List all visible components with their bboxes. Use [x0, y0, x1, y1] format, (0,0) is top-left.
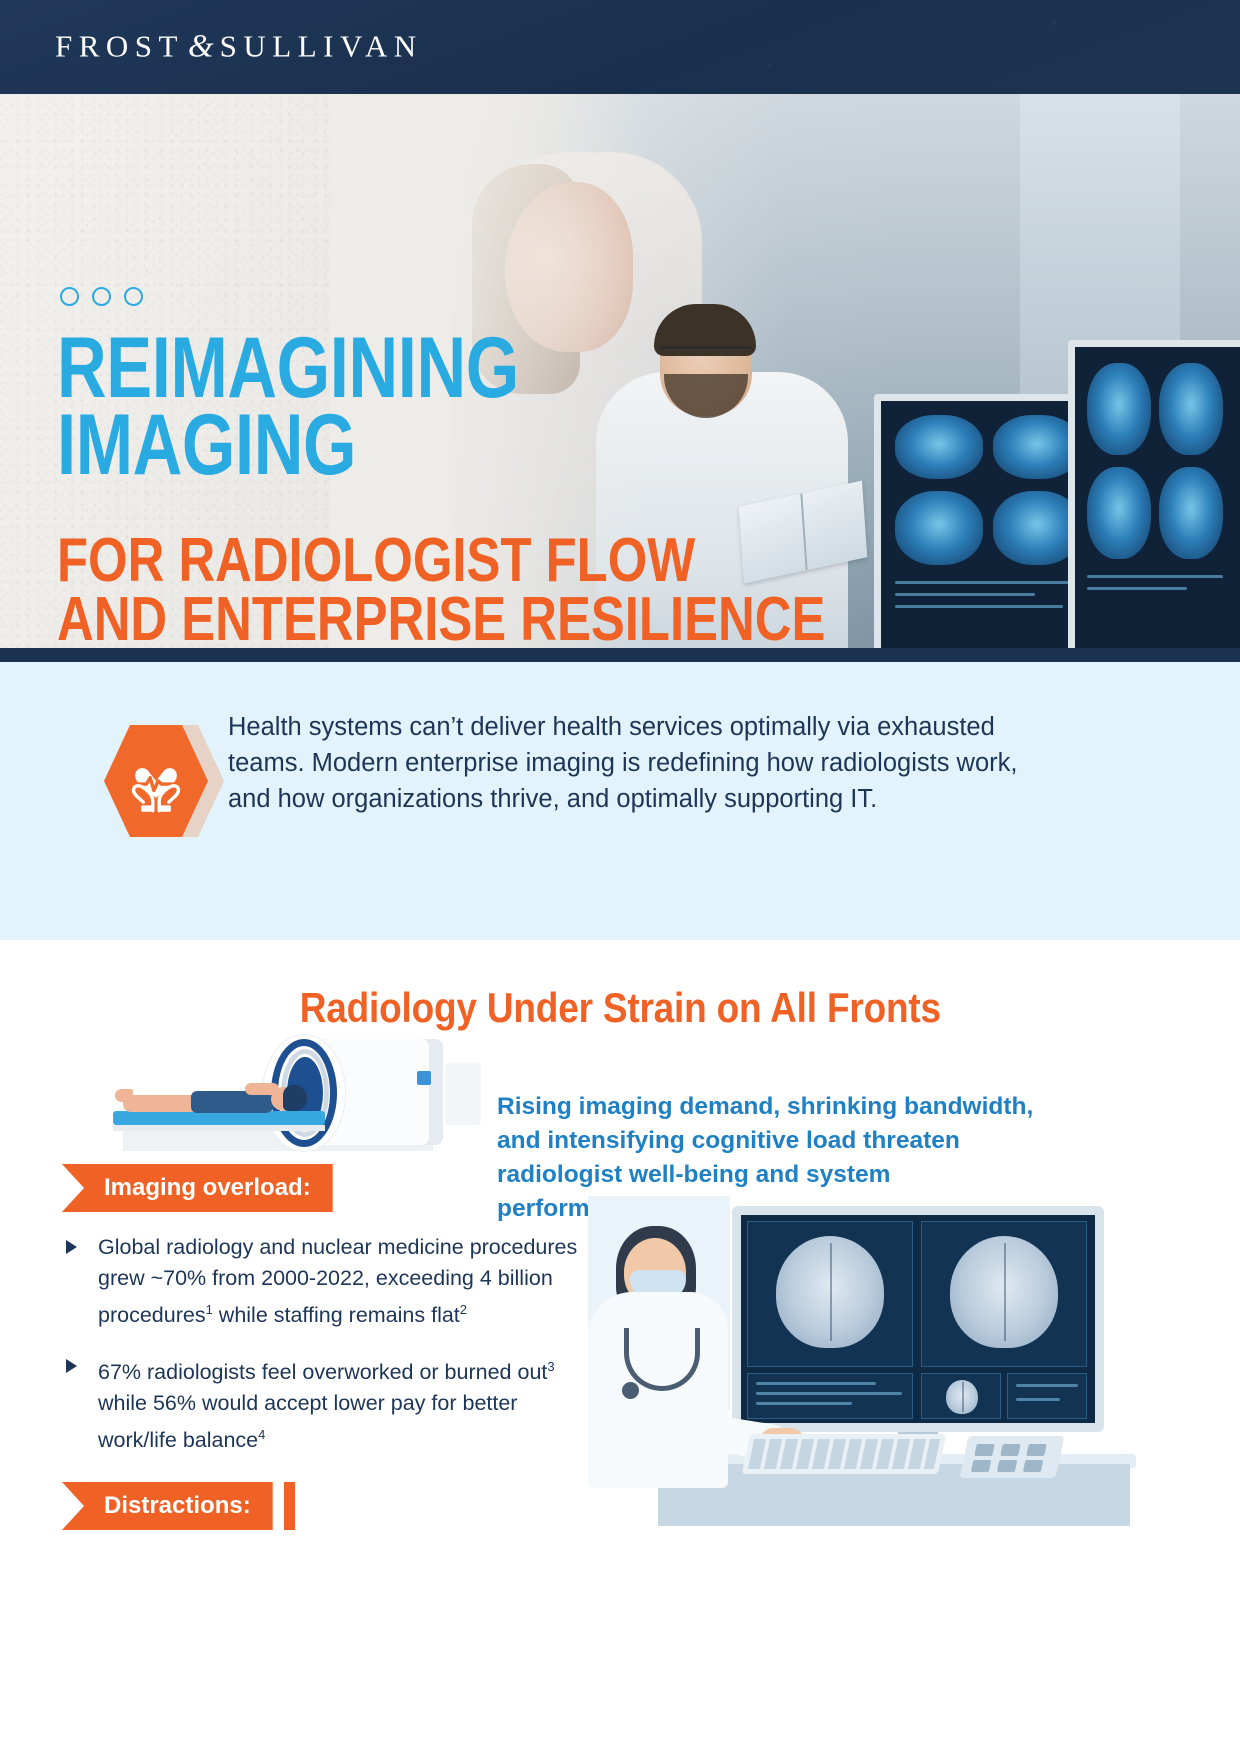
mri-rear-console: [445, 1063, 481, 1125]
pad-key: [1026, 1444, 1047, 1456]
hero-subtitle: FOR RADIOLOGIST FLOW AND ENTERPRISE RESI…: [57, 532, 994, 648]
mri-patient-bed: [113, 1111, 325, 1125]
footnote-ref-4: 4: [258, 1427, 265, 1442]
brain-scan-image: [776, 1236, 884, 1348]
scan-panel-left: [747, 1221, 913, 1367]
banner-label: Imaging overload:: [62, 1164, 333, 1212]
scan-data-line: [756, 1382, 876, 1385]
pad-key: [997, 1460, 1018, 1472]
scan-thumb-panel: [921, 1373, 1001, 1419]
intro-paragraph: Health systems can’t deliver health serv…: [228, 709, 1058, 817]
scan-image: [1087, 363, 1151, 455]
brain-scan-image: [950, 1236, 1058, 1348]
scan-tools-panel: [1007, 1373, 1087, 1419]
banner-label: Distractions:: [62, 1482, 273, 1530]
mri-bed-shadow: [113, 1125, 325, 1131]
circle-icon: [92, 287, 111, 306]
pad-key: [974, 1444, 995, 1456]
banner-end-tick: [284, 1482, 295, 1530]
scan-image: [1159, 467, 1223, 559]
three-circles-decoration: [60, 287, 143, 306]
hero-subtitle-line-2: AND ENTERPRISE RESILIENCE: [57, 591, 825, 648]
section-heading: Radiology Under Strain on All Fronts: [0, 984, 1240, 1032]
logo-ampersand: &: [184, 29, 220, 65]
frost-sullivan-logo: FROST&SULLIVAN: [55, 29, 423, 66]
hero-subtitle-line-1: FOR RADIOLOGIST FLOW: [57, 532, 825, 591]
hero-title: REIMAGINING IMAGING: [57, 330, 634, 485]
footnote-ref-3: 3: [547, 1359, 554, 1374]
circle-icon: [124, 287, 143, 306]
logo-word-frost: FROST: [55, 29, 184, 64]
bullet-list: Global radiology and nuclear medicine pr…: [62, 1232, 582, 1476]
bullet-text-2b: while 56% would accept lower pay for bet…: [98, 1391, 517, 1452]
footnote-ref-2: 2: [460, 1302, 467, 1317]
bullet-text-2a: 67% radiologists feel overworked or burn…: [98, 1360, 547, 1384]
scan-monitor-secondary: [1068, 340, 1240, 648]
brand-header-bar: FROST&SULLIVAN: [0, 0, 1240, 94]
heart-in-hands-hexagon-icon: [104, 722, 228, 840]
section-heading-text: Radiology Under Strain on All Fronts: [299, 984, 940, 1032]
scan-panel-right: [921, 1221, 1087, 1367]
bullet-text-1b: while staffing remains flat: [213, 1303, 460, 1327]
keyboard: [742, 1434, 947, 1474]
hero-title-line-2: IMAGING: [57, 407, 519, 484]
keyboard-keys: [748, 1439, 940, 1469]
mri-scanner-illustration: [95, 1035, 485, 1155]
brain-thumbnail-icon: [946, 1380, 978, 1414]
hero-section: REIMAGINING IMAGING FOR RADIOLOGIST FLOW…: [0, 94, 1240, 648]
scan-image: [1087, 467, 1151, 559]
stethoscope-bell-icon: [622, 1382, 639, 1399]
banner-end-tick: [320, 1164, 331, 1212]
heart-in-hands-glyph: [122, 749, 190, 817]
control-pad: [960, 1436, 1065, 1478]
scan-data-line: [1016, 1398, 1060, 1401]
banner-flag: Distractions:: [62, 1482, 273, 1530]
circle-icon: [60, 287, 79, 306]
footnote-ref-1: 1: [206, 1302, 213, 1317]
triangle-bullet-icon: [66, 1359, 77, 1373]
logo-word-sullivan: SULLIVAN: [220, 29, 423, 64]
scan-data-line: [1087, 575, 1223, 578]
pad-key: [971, 1460, 992, 1472]
scan-image: [1159, 363, 1223, 455]
scan-data-line: [1087, 587, 1187, 590]
workstation-monitor: [732, 1206, 1104, 1432]
scan-data-line: [756, 1392, 902, 1395]
scan-data-line: [756, 1402, 852, 1405]
glasses-icon: [658, 346, 754, 367]
pad-key: [1000, 1444, 1021, 1456]
radiologist-workstation-illustration: [560, 1196, 1160, 1526]
patient-hair: [283, 1085, 307, 1111]
scan-data-line: [1016, 1384, 1078, 1387]
navy-divider-bar: [0, 648, 1240, 662]
list-item: Global radiology and nuclear medicine pr…: [62, 1232, 582, 1331]
banner-flag: Imaging overload:: [62, 1164, 333, 1212]
triangle-bullet-icon: [66, 1240, 77, 1254]
scan-data-panel: [747, 1373, 913, 1419]
patient-legs: [123, 1095, 199, 1112]
hero-title-line-1: REIMAGINING: [57, 330, 519, 407]
chest-scan-image: [895, 415, 983, 479]
mri-control-screen: [417, 1071, 431, 1085]
pad-key: [1023, 1460, 1044, 1472]
list-item: 67% radiologists feel overworked or burn…: [62, 1351, 582, 1456]
